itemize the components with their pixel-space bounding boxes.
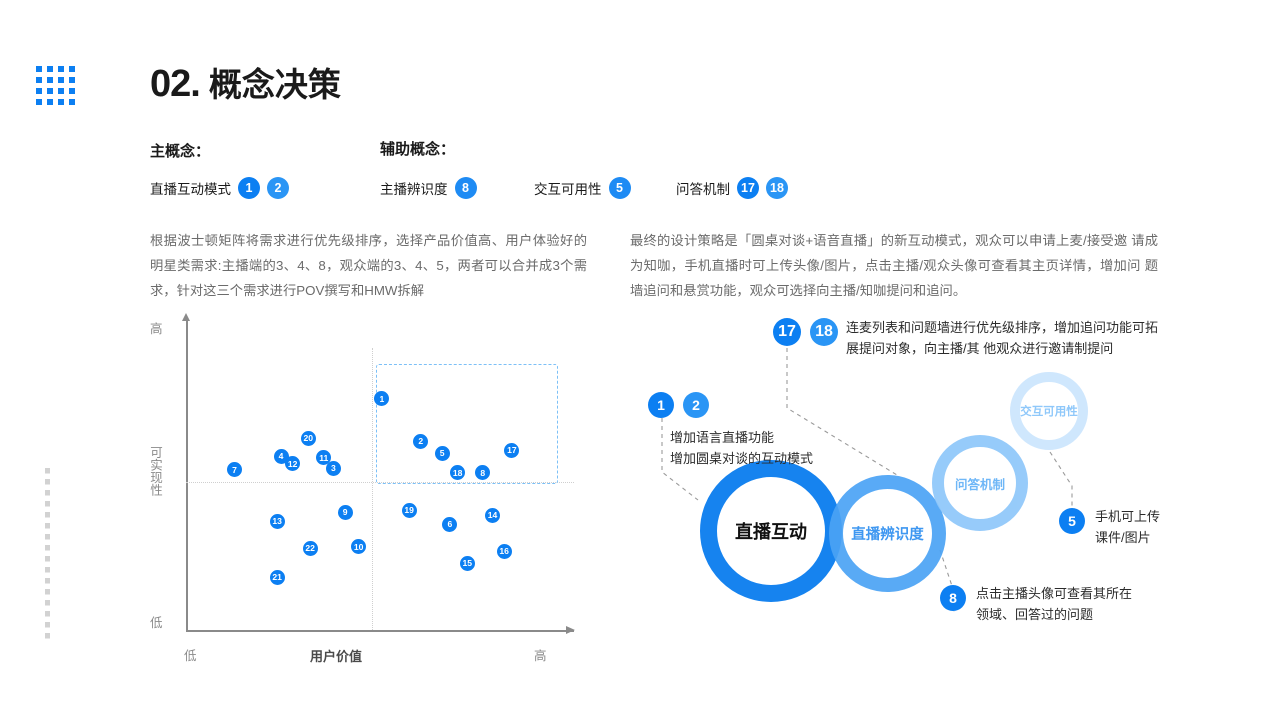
chart-point[interactable]: 5 bbox=[435, 446, 450, 461]
annotation-line: 增加语言直播功能 bbox=[670, 427, 813, 448]
ring-qa-mechanism[interactable]: 问答机制 bbox=[932, 435, 1028, 531]
annotation-line: 增加圆桌对谈的互动模式 bbox=[670, 448, 813, 469]
page-title: 02. 概念决策 bbox=[150, 58, 341, 106]
annotation-badge[interactable]: 5 bbox=[1059, 508, 1085, 534]
chart-star-quadrant-highlight bbox=[376, 364, 558, 484]
chart-y-axis bbox=[186, 320, 188, 632]
leader-line-5 bbox=[1050, 452, 1072, 514]
chart-y-tick-low: 低 bbox=[150, 612, 163, 631]
chart-point[interactable]: 21 bbox=[270, 570, 285, 585]
concept-badge[interactable]: 5 bbox=[609, 177, 631, 199]
annotation-badge[interactable]: 2 bbox=[683, 392, 709, 418]
chart-point[interactable]: 20 bbox=[301, 431, 316, 446]
annotation-line: 展提问对象，向主播/其 他观众进行邀请制提问 bbox=[846, 338, 1158, 359]
annotation-badges-1-2: 1 2 bbox=[648, 392, 709, 418]
concept-badge[interactable]: 8 bbox=[455, 177, 477, 199]
annotation-line: 点击主播头像可查看其所在 bbox=[976, 583, 1132, 604]
annotation-badges-5: 5 bbox=[1059, 508, 1085, 534]
aux-concept-item-interaction-usability[interactable]: 交互可用性 5 bbox=[534, 177, 631, 199]
chart-point[interactable]: 13 bbox=[270, 514, 285, 529]
annotation-line: 课件/图片 bbox=[1095, 527, 1160, 548]
annotation-badge[interactable]: 18 bbox=[810, 318, 838, 346]
chart-point[interactable]: 16 bbox=[497, 544, 512, 559]
annotation-text-1-2: 增加语言直播功能 增加圆桌对谈的互动模式 bbox=[670, 427, 813, 469]
annotation-badge[interactable]: 17 bbox=[773, 318, 801, 346]
aux-concept-item-anchor-recognition[interactable]: 主播辨识度 8 bbox=[380, 177, 477, 199]
concept-ring-diagram: 直播互动 直播辨识度 问答机制 交互可用性 1 2 增加语言直播功能 增加圆桌对… bbox=[620, 300, 1280, 660]
aux-concept-heading: 辅助概念： bbox=[380, 138, 455, 159]
ring-label: 问答机制 bbox=[955, 474, 1005, 493]
chart-point[interactable]: 22 bbox=[303, 541, 318, 556]
annotation-badges-17-18: 17 18 bbox=[773, 318, 838, 346]
slide-page: 02. 概念决策 主概念： 辅助概念： 直播互动模式 1 2 主播辨识度 8 交… bbox=[0, 0, 1280, 720]
right-description-paragraph: 最终的设计策略是「圆桌对谈+语音直播」的新互动模式，观众可以申请上麦/接受邀 请… bbox=[630, 228, 1158, 303]
page-title-number: 02. bbox=[150, 63, 200, 106]
aux-concept-label: 交互可用性 bbox=[534, 178, 602, 198]
chart-point[interactable]: 10 bbox=[351, 539, 366, 554]
chart-point[interactable]: 7 bbox=[227, 462, 242, 477]
concept-badge[interactable]: 18 bbox=[766, 177, 788, 199]
annotation-text-5: 手机可上传 课件/图片 bbox=[1095, 506, 1160, 548]
chart-x-tick-low: 低 bbox=[184, 645, 197, 664]
dot-grid-decoration bbox=[36, 66, 80, 110]
ring-live-interaction[interactable]: 直播互动 bbox=[700, 460, 842, 602]
chart-point[interactable]: 6 bbox=[442, 517, 457, 532]
ring-label: 交互可用性 bbox=[1020, 403, 1078, 419]
chart-point[interactable]: 2 bbox=[413, 434, 428, 449]
ring-anchor-recognition[interactable]: 直播辨识度 bbox=[829, 475, 946, 592]
annotation-line: 领域、回答过的问题 bbox=[976, 604, 1132, 625]
chart-y-axis-label: 可实现性 bbox=[146, 446, 165, 496]
chart-point[interactable]: 14 bbox=[485, 508, 500, 523]
main-concept-heading: 主概念： bbox=[150, 140, 210, 161]
chart-point[interactable]: 15 bbox=[460, 556, 475, 571]
left-description-paragraph: 根据波士顿矩阵将需求进行优先级排序，选择产品价值高、用户体验好的明星类需求:主播… bbox=[150, 228, 587, 303]
aux-concept-label: 问答机制 bbox=[676, 178, 730, 198]
chart-x-axis-label: 用户价值 bbox=[310, 646, 362, 665]
concept-badge[interactable]: 17 bbox=[737, 177, 759, 199]
ring-label: 直播辨识度 bbox=[851, 523, 924, 544]
concept-badge[interactable]: 1 bbox=[238, 177, 260, 199]
boston-matrix-chart: 高 低 低 高 可实现性 用户价值 1234567891011121314151… bbox=[150, 320, 570, 670]
annotation-badge[interactable]: 1 bbox=[648, 392, 674, 418]
annotation-text-17-18: 连麦列表和问题墙进行优先级排序，增加追问功能可拓 展提问对象，向主播/其 他观众… bbox=[846, 317, 1158, 359]
chart-point[interactable]: 12 bbox=[285, 456, 300, 471]
chart-point[interactable]: 9 bbox=[338, 505, 353, 520]
annotation-line: 手机可上传 bbox=[1095, 506, 1160, 527]
page-title-text: 概念决策 bbox=[209, 58, 341, 106]
chart-point[interactable]: 19 bbox=[402, 503, 417, 518]
chart-quadrant-vertical-line bbox=[372, 348, 373, 630]
ring-interaction-usability[interactable]: 交互可用性 bbox=[1010, 372, 1088, 450]
ring-label: 直播互动 bbox=[735, 518, 807, 544]
chart-x-tick-high: 高 bbox=[534, 645, 547, 664]
annotation-badge[interactable]: 8 bbox=[940, 585, 966, 611]
chart-x-axis bbox=[186, 630, 574, 632]
aux-concept-label: 主播辨识度 bbox=[380, 178, 448, 198]
annotation-text-8: 点击主播头像可查看其所在 领域、回答过的问题 bbox=[976, 583, 1132, 625]
annotation-line: 连麦列表和问题墙进行优先级排序，增加追问功能可拓 bbox=[846, 317, 1158, 338]
main-concept-item-live-interaction[interactable]: 直播互动模式 1 2 bbox=[150, 177, 289, 199]
main-concept-label: 直播互动模式 bbox=[150, 178, 231, 198]
concept-badge[interactable]: 2 bbox=[267, 177, 289, 199]
aux-concept-item-qa-mechanism[interactable]: 问答机制 17 18 bbox=[676, 177, 788, 199]
annotation-badges-8: 8 bbox=[940, 585, 966, 611]
chart-y-tick-high: 高 bbox=[150, 318, 163, 337]
vertical-dotted-rule bbox=[45, 468, 50, 640]
